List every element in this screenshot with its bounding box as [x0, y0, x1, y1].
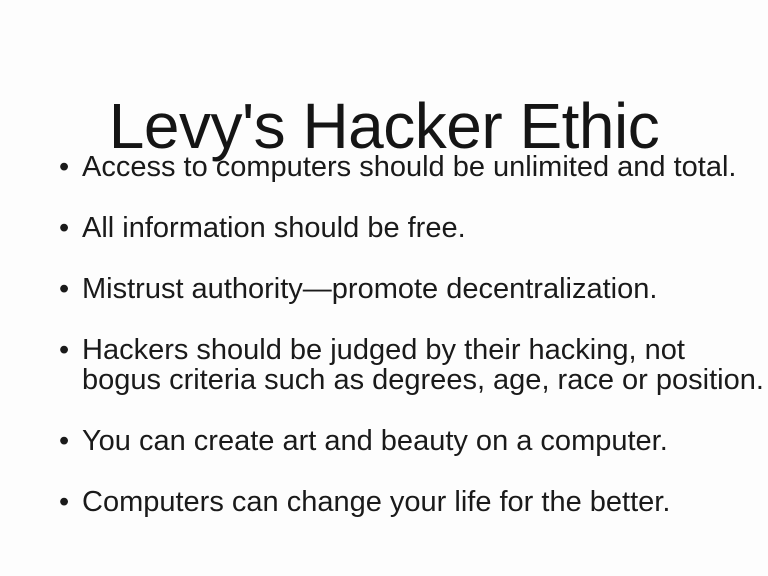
bullet-point-icon: •: [59, 152, 79, 182]
list-item-line: Computers can change your life for the b…: [82, 487, 720, 517]
list-item-text: Hackers should be judged by their hackin…: [82, 335, 720, 395]
bullet-point-icon: •: [59, 213, 79, 243]
list-item-line: bogus criteria such as degrees, age, rac…: [82, 365, 720, 395]
list-item-line: All information should be free.: [82, 213, 720, 243]
list-item: • Hackers should be judged by their hack…: [56, 335, 720, 395]
list-item-text: Mistrust authority—promote decentralizat…: [82, 274, 720, 304]
list-item: • Mistrust authority—promote decentraliz…: [56, 274, 720, 304]
bullet-point-icon: •: [59, 274, 79, 304]
list-item-line: You can create art and beauty on a compu…: [82, 426, 720, 456]
bullet-point-icon: •: [59, 335, 79, 365]
list-item-text: All information should be free.: [82, 213, 720, 243]
list-item: • You can create art and beauty on a com…: [56, 426, 720, 456]
list-item-text: Access to computers should be unlimited …: [82, 152, 720, 182]
bullet-list: • Access to computers should be unlimite…: [56, 152, 720, 517]
presentation-slide: Levy's Hacker Ethic • Access to computer…: [0, 0, 768, 576]
list-item-text: You can create art and beauty on a compu…: [82, 426, 720, 456]
list-item: • Access to computers should be unlimite…: [56, 152, 720, 182]
list-item-line: Mistrust authority—promote decentralizat…: [82, 274, 720, 304]
bullet-point-icon: •: [59, 487, 79, 517]
list-item-text: Computers can change your life for the b…: [82, 487, 720, 517]
list-item: • Computers can change your life for the…: [56, 487, 720, 517]
list-item-line: Access to computers should be unlimited …: [82, 152, 720, 182]
bullet-point-icon: •: [59, 426, 79, 456]
list-item: • All information should be free.: [56, 213, 720, 243]
list-item-line: Hackers should be judged by their hackin…: [82, 335, 720, 365]
page-title: Levy's Hacker Ethic: [0, 93, 768, 160]
